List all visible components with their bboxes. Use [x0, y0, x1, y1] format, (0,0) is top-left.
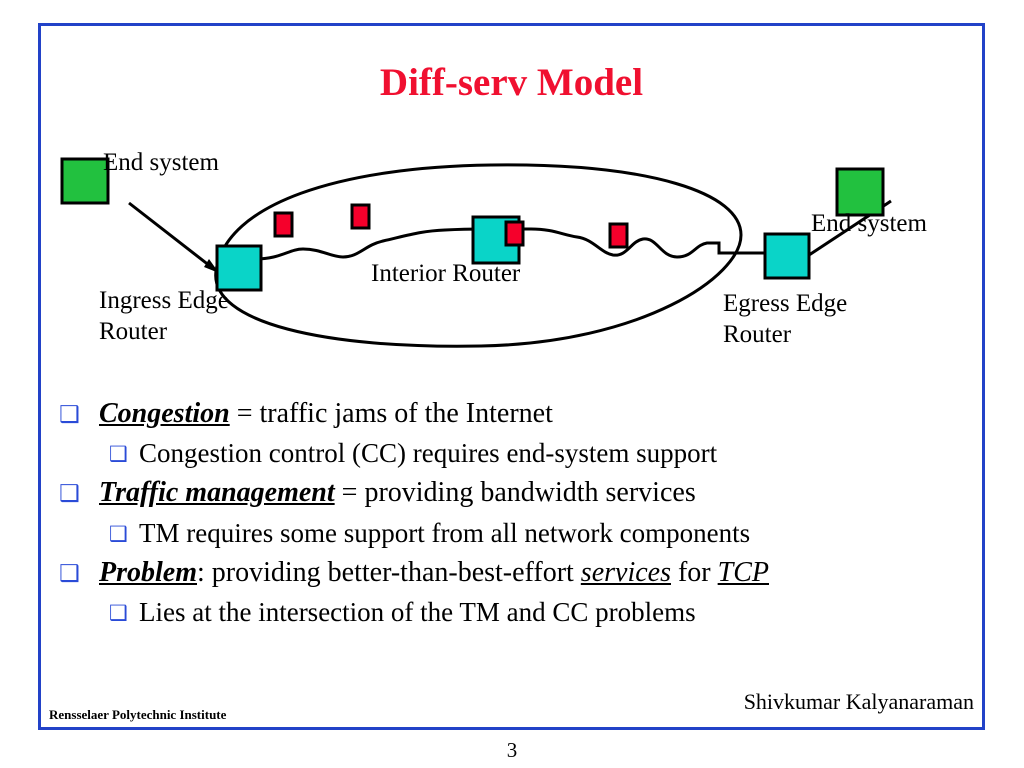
square-outline-bullet-icon: ❑: [109, 436, 139, 465]
square-outline-bullet-icon: ❑: [109, 595, 139, 624]
square-outline-bullet-icon: ❑: [59, 555, 99, 586]
link-endsystem-ingress: [129, 203, 219, 273]
bullet-emph-services: services: [581, 557, 671, 588]
label-interior-router: Interior Router: [371, 259, 520, 290]
footer-author: Shivkumar Kalyanaraman: [744, 689, 974, 715]
list-item: ❑ TM requires some support from all netw…: [51, 516, 981, 551]
bullet-rest-b: for: [671, 557, 718, 588]
page-title: Diff-serv Model: [41, 60, 982, 105]
list-item: ❑ Congestion control (CC) requires end-s…: [51, 436, 981, 471]
packet-marker: [275, 213, 292, 236]
bullet-term: Problem: [99, 557, 197, 588]
bullet-rest: = traffic jams of the Internet: [230, 398, 553, 429]
label-ingress-edge-router: Ingress Edge Router: [99, 286, 229, 347]
packet-marker: [352, 205, 369, 228]
list-item: ❑ Congestion = traffic jams of the Inter…: [51, 396, 981, 432]
label-egress-line2: Router: [723, 321, 791, 348]
label-ingress-line1: Ingress Edge: [99, 287, 229, 314]
bullet-text: Problem: providing better-than-best-effo…: [99, 555, 981, 591]
label-egress-edge-router: Egress Edge Router: [723, 289, 847, 350]
bullet-text: TM requires some support from all networ…: [139, 516, 981, 551]
label-end-system-right: End system: [811, 209, 927, 240]
square-outline-bullet-icon: ❑: [109, 516, 139, 545]
bullet-term: Congestion: [99, 398, 230, 429]
square-outline-bullet-icon: ❑: [59, 396, 99, 427]
square-outline-bullet-icon: ❑: [59, 475, 99, 506]
list-item: ❑ Traffic management = providing bandwid…: [51, 475, 981, 511]
bullet-rest: = providing bandwidth services: [335, 477, 696, 508]
diffserv-network-diagram: End system End system Interior Router In…: [41, 131, 988, 386]
ingress-edge-router-node: [217, 246, 261, 290]
bullet-list: ❑ Congestion = traffic jams of the Inter…: [51, 396, 981, 634]
bullet-rest-a: : providing better-than-best-effort: [197, 557, 581, 588]
label-ingress-line2: Router: [99, 318, 167, 345]
label-end-system-left: End system: [103, 148, 219, 179]
bullet-text: Congestion = traffic jams of the Interne…: [99, 396, 981, 432]
page-number: 3: [0, 738, 1024, 763]
label-egress-line1: Egress Edge: [723, 290, 847, 317]
list-item: ❑ Lies at the intersection of the TM and…: [51, 595, 981, 630]
bullet-emph-tcp: TCP: [718, 557, 769, 588]
bullet-text: Lies at the intersection of the TM and C…: [139, 595, 981, 630]
packet-marker: [506, 222, 523, 245]
footer-institution: Rensselaer Polytechnic Institute: [49, 707, 226, 723]
packet-marker: [610, 224, 627, 247]
end-system-left-node: [62, 159, 108, 203]
bullet-text: Congestion control (CC) requires end-sys…: [139, 436, 981, 471]
bullet-term: Traffic management: [99, 477, 335, 508]
list-item: ❑ Problem: providing better-than-best-ef…: [51, 555, 981, 591]
bullet-text: Traffic management = providing bandwidth…: [99, 475, 981, 511]
slide-frame: Diff-serv Model: [38, 23, 985, 730]
egress-edge-router-node: [765, 234, 809, 278]
